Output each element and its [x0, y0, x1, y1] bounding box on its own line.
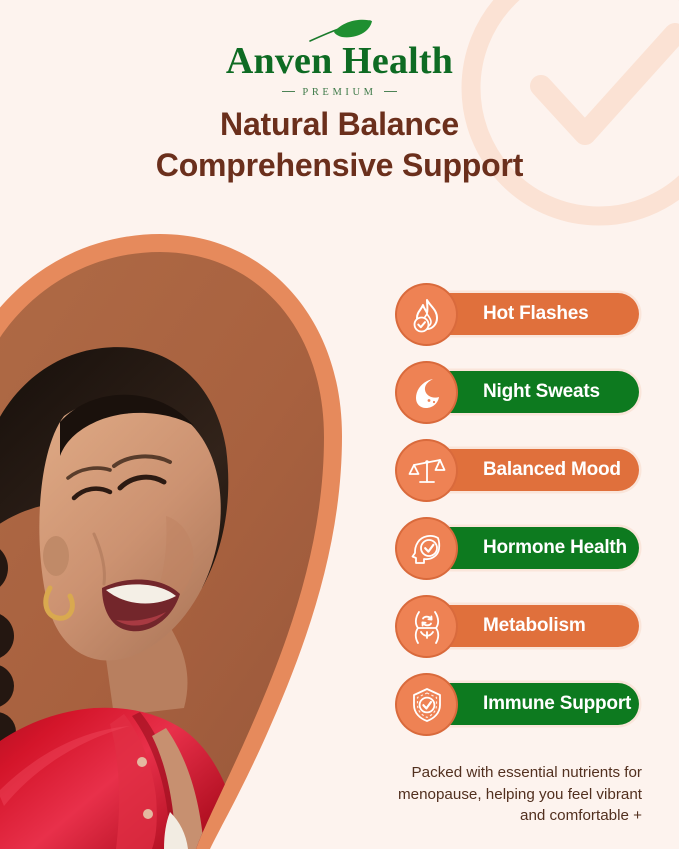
- footer-line-3: and comfortable +: [342, 805, 642, 827]
- benefit-label: Night Sweats: [483, 381, 600, 403]
- benefit-pill-night-sweats[interactable]: Night Sweats: [427, 371, 639, 413]
- footer-line-2: menopause, helping you feel vibrant: [342, 784, 642, 806]
- head-check-icon: [397, 519, 456, 578]
- balance-scale-icon: [397, 441, 456, 500]
- crescent-moon-icon: [397, 363, 456, 422]
- headline-line-1: Natural Balance: [0, 104, 679, 145]
- benefit-pill-hot-flashes[interactable]: Hot Flashes: [427, 293, 639, 335]
- product-infographic: Anven Health PREMIUM Natural Balance Com…: [0, 0, 679, 849]
- divider-left: [282, 91, 295, 92]
- list-item[interactable]: Immune Support: [397, 675, 642, 753]
- headline-line-2: Comprehensive Support: [0, 145, 679, 186]
- benefit-pill-immune-support[interactable]: Immune Support: [427, 683, 639, 725]
- benefit-label: Immune Support: [483, 693, 631, 715]
- flame-check-icon: [397, 285, 456, 344]
- list-item[interactable]: Hot Flashes: [397, 285, 642, 363]
- divider-right: [384, 91, 397, 92]
- brand-tier: PREMIUM: [0, 87, 679, 98]
- page-title: Natural Balance Comprehensive Support: [0, 104, 679, 186]
- benefit-pill-hormone-health[interactable]: Hormone Health: [427, 527, 639, 569]
- list-item[interactable]: Metabolism: [397, 597, 642, 675]
- waist-cycle-icon: [397, 597, 456, 656]
- list-item[interactable]: Hormone Health: [397, 519, 642, 597]
- benefit-label: Hormone Health: [483, 537, 627, 559]
- footer-line-1: Packed with essential nutrients for: [342, 762, 642, 784]
- shield-check-icon: [397, 675, 456, 734]
- model-photo: [0, 216, 364, 849]
- benefit-label: Balanced Mood: [483, 459, 621, 481]
- brand-logo: Anven Health PREMIUM: [0, 18, 679, 98]
- benefits-list: Hot Flashes Night Sweats: [397, 285, 642, 753]
- benefit-label: Hot Flashes: [483, 303, 589, 325]
- list-item[interactable]: Night Sweats: [397, 363, 642, 441]
- brand-tier-label: PREMIUM: [302, 87, 376, 98]
- benefit-label: Metabolism: [483, 615, 586, 637]
- brand-name: Anven Health: [0, 42, 679, 80]
- footer-note: Packed with essential nutrients for meno…: [342, 762, 642, 827]
- benefit-pill-metabolism[interactable]: Metabolism: [427, 605, 639, 647]
- benefit-pill-balanced-mood[interactable]: Balanced Mood: [427, 449, 639, 491]
- list-item[interactable]: Balanced Mood: [397, 441, 642, 519]
